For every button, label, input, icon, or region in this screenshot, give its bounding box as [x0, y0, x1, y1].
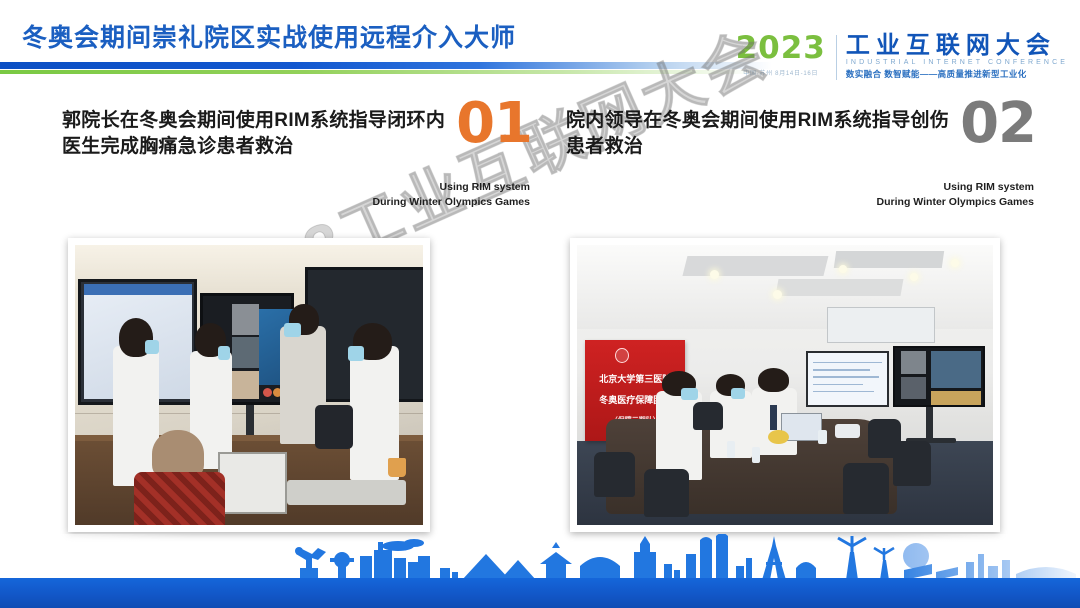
panel-01-caption-cn: 郭院长在冬奥会期间使用RIM系统指导闭环内医生完成胸痛急诊患者救治 [62, 108, 452, 160]
panel-01-caption: 郭院长在冬奥会期间使用RIM系统指导闭环内医生完成胸痛急诊患者救治 01 Usi… [62, 108, 532, 170]
logo-date-location: 中国·苏州 8月14日-16日 [736, 68, 826, 77]
panel-01-photo-scene [75, 245, 423, 525]
conference-logo: 2023 中国·苏州 8月14日-16日 工业互联网大会 INDUSTRIAL … [736, 33, 1068, 80]
logo-text-block: 工业互联网大会 INDUSTRIAL INTERNET CONFERENCE 数… [846, 33, 1068, 80]
header-rule-blue [0, 62, 772, 69]
panel-01-caption-en-line1: Using RIM system [280, 180, 530, 195]
logo-slogan: 数实融合 数智赋能——高质量推进新型工业化 [846, 68, 1068, 80]
panel-02-caption-en-line1: Using RIM system [784, 180, 1034, 195]
laptop-left [218, 452, 288, 514]
panel-02-photo: 北京大学第三医院 冬奥医疗保障团队 （保障二期队） [570, 238, 1000, 532]
footer-band [0, 578, 1080, 608]
panel-02-number: 02 [960, 96, 1036, 152]
whiteboard [827, 307, 935, 343]
panel-02-caption: 院内领导在冬奥会期间使用RIM系统指导创伤患者救治 02 Using RIM s… [566, 108, 1036, 170]
panel-01-photo [68, 238, 430, 532]
panel-01-caption-en: Using RIM system During Winter Olympics … [280, 180, 530, 210]
panel-01-number: 01 [456, 96, 532, 152]
logo-title-cn: 工业互联网大会 [846, 33, 1068, 58]
banner-seal-icon [615, 348, 629, 363]
page-title: 冬奥会期间崇礼院区实战使用远程介入大师 [22, 18, 516, 54]
panel-01-caption-en-line2: During Winter Olympics Games [280, 195, 530, 210]
header-rule-green [0, 70, 760, 74]
skyline-illustration [0, 534, 1080, 580]
slide: 冬奥会期间崇礼院区实战使用远程介入大师 2023 中国·苏州 8月14日-16日… [0, 0, 1080, 608]
panel-02-caption-en: Using RIM system During Winter Olympics … [784, 180, 1034, 210]
logo-divider [836, 35, 837, 80]
logo-year: 2023 [736, 33, 826, 64]
footer [0, 536, 1080, 608]
logo-year-block: 2023 中国·苏州 8月14日-16日 [736, 33, 836, 77]
panel-02-photo-scene: 北京大学第三医院 冬奥医疗保障团队 （保障二期队） [577, 245, 993, 525]
logo-title-en: INDUSTRIAL INTERNET CONFERENCE [846, 59, 1068, 66]
panel-02-caption-cn: 院内领导在冬奥会期间使用RIM系统指导创伤患者救治 [566, 108, 956, 160]
panel-02-caption-en-line2: During Winter Olympics Games [784, 195, 1034, 210]
wall-display-document [806, 351, 889, 407]
